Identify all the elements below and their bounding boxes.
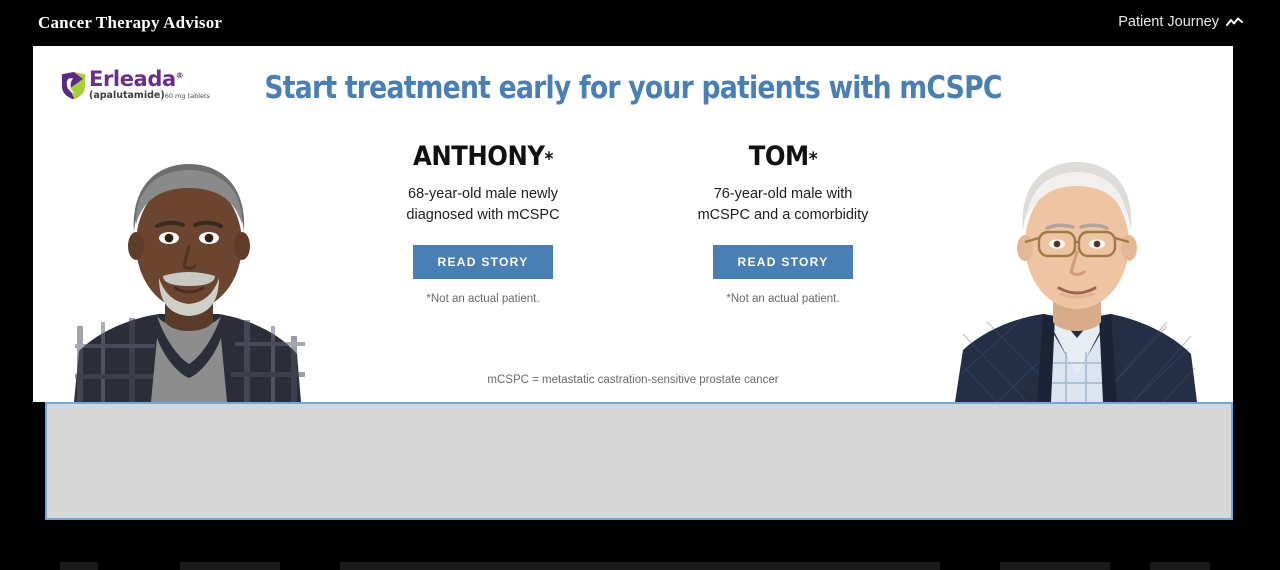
patient-name-tom: TOM* — [648, 142, 918, 172]
ad-headline: Start treatment early for your patients … — [117, 70, 1149, 106]
patient-card-anthony: ANTHONY* 68-year-old male newly diagnose… — [333, 142, 633, 305]
abbreviation-footnote: mCSPC = metastatic castration-sensitive … — [333, 374, 933, 386]
read-story-button-anthony[interactable]: READ STORY — [413, 245, 552, 279]
erleada-shield-icon — [60, 71, 87, 100]
nav-patient-journey[interactable]: Patient Journey — [1118, 14, 1244, 30]
patient-card-tom: TOM* 76-year-old male with mCSPC and a c… — [633, 142, 933, 305]
taskbar — [0, 560, 1280, 570]
taskbar-chip — [1000, 562, 1110, 570]
patient-description-line1: 68-year-old male newly — [333, 184, 633, 205]
content-placeholder-box[interactable] — [45, 402, 1233, 520]
patient-columns: ANTHONY* 68-year-old male newly diagnose… — [333, 142, 933, 305]
patient-name-anthony: ANTHONY* — [348, 142, 618, 172]
patient-description-line2: diagnosed with mCSPC — [333, 205, 633, 226]
patient-description-line2: mCSPC and a comorbidity — [633, 205, 933, 226]
patient-photo-anthony — [39, 126, 339, 402]
taskbar-chip — [340, 562, 940, 570]
patient-disclaimer-tom: *Not an actual patient. — [633, 293, 933, 305]
patient-disclaimer-anthony: *Not an actual patient. — [333, 293, 633, 305]
taskbar-chip — [180, 562, 280, 570]
advertisement-card[interactable]: Erleada® (apalutamide)60 mg tablets Star… — [33, 46, 1233, 402]
nav-patient-journey-label: Patient Journey — [1118, 14, 1219, 30]
browser-page: Cancer Therapy Advisor Patient Journey — [0, 0, 1280, 570]
patient-description-tom: 76-year-old male with mCSPC and a comorb… — [633, 184, 933, 226]
patient-description-anthony: 68-year-old male newly diagnosed with mC… — [333, 184, 633, 226]
patient-description-line1: 76-year-old male with — [633, 184, 933, 205]
wave-zigzag-icon — [1226, 16, 1244, 28]
site-header: Cancer Therapy Advisor Patient Journey — [0, 0, 1280, 46]
taskbar-chip — [1150, 562, 1210, 570]
taskbar-chip — [60, 562, 98, 570]
patient-photo-tom — [927, 126, 1227, 402]
page-title: Cancer Therapy Advisor — [38, 13, 222, 33]
read-story-button-tom[interactable]: READ STORY — [713, 245, 852, 279]
